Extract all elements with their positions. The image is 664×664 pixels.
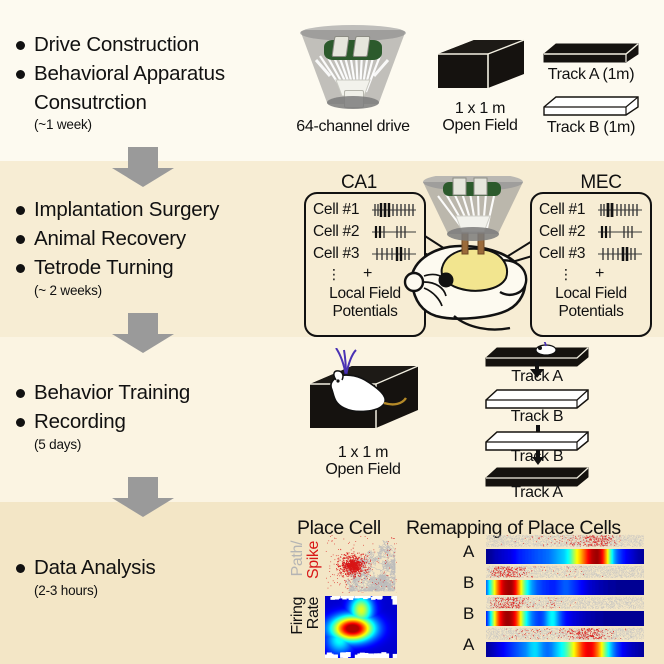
- stage-3-steps: Behavior Training Recording (5 days): [16, 379, 306, 452]
- cell-label: Cell #2: [313, 223, 371, 241]
- bullet-item: Tetrode Turning: [16, 254, 306, 281]
- bullet-label: Recording: [34, 408, 126, 435]
- flow-arrow-1-icon: [112, 147, 174, 187]
- drive-base: [327, 96, 379, 109]
- open-field-caption-1: 1 x 1 m: [430, 100, 530, 118]
- stage-duration: (~1 week): [34, 117, 306, 132]
- bullet-item: Animal Recovery: [16, 225, 306, 252]
- mec-cell-row: Cell #3: [539, 243, 643, 265]
- open-field-icon: [432, 36, 528, 98]
- remap-heat-bar-1: [486, 549, 644, 564]
- spike-raster-icon: [597, 246, 643, 262]
- rate-label: Rate: [306, 597, 322, 629]
- sequence-label-2: Track B: [484, 408, 590, 426]
- bullet-dot-icon: [16, 564, 25, 573]
- ellipsis-mark: ⋮: [559, 266, 573, 283]
- cell-label: Cell #3: [539, 245, 597, 263]
- bullet-dot-icon: [16, 264, 25, 273]
- remap-heat-bar-2: [486, 580, 644, 595]
- mec-recording-box: Cell #1 Cell #2: [530, 192, 652, 337]
- sequence-label-4: Track A: [484, 484, 590, 502]
- cell-label: Cell #1: [539, 201, 597, 219]
- bullet-item: Data Analysis: [16, 554, 306, 581]
- bullet-dot-icon: [16, 389, 25, 398]
- bullet-item: Recording: [16, 408, 306, 435]
- drive-icon: [300, 30, 406, 110]
- track-a-caption: Track A (1m): [528, 66, 654, 84]
- region-title-ca1: CA1: [316, 172, 402, 194]
- remap-row-label-1: A: [463, 542, 474, 562]
- bullet-item: Behavior Training: [16, 379, 306, 406]
- spike-raster-icon: [597, 202, 643, 218]
- stage-duration: (5 days): [34, 437, 306, 452]
- remap-row-label-3: B: [463, 604, 474, 624]
- open-field-caption-2: Open Field: [430, 117, 530, 135]
- stage-duration: (2-3 hours): [34, 583, 306, 598]
- bullet-dot-icon: [16, 235, 25, 244]
- spike-raster-icon: [597, 224, 643, 240]
- path-spike-plot: [325, 535, 397, 593]
- bullet-dot-icon: [16, 41, 25, 50]
- flow-arrow-2-icon: [112, 313, 174, 353]
- remap-row-label-2: B: [463, 573, 474, 593]
- bullet-label: Tetrode Turning: [34, 254, 173, 281]
- bullet-item: Implantation Surgery: [16, 196, 306, 223]
- bullet-dot-icon: [16, 70, 25, 79]
- spike-label: Spike: [306, 541, 322, 579]
- stage-4-steps: Data Analysis (2-3 hours): [16, 554, 306, 598]
- lfp-line-2: Potentials: [539, 303, 643, 321]
- open-field-with-rat-icon: [300, 348, 426, 448]
- remap-row-label-4: A: [463, 635, 474, 655]
- remap-path-strip-3: [486, 595, 644, 610]
- firing-label: Firing: [290, 597, 306, 635]
- bullet-label: Drive Construction: [34, 31, 199, 58]
- stage-duration: (~ 2 weeks): [34, 283, 306, 298]
- track-b-icon: [542, 93, 640, 119]
- bullet-label: Behavior Training: [34, 379, 190, 406]
- bullet-label: Data Analysis: [34, 554, 156, 581]
- bullet-continuation: Consutrction: [34, 89, 306, 116]
- cell-label: Cell #2: [539, 223, 597, 241]
- path-label: Path/: [290, 541, 306, 576]
- mec-cell-row: Cell #1: [539, 199, 643, 221]
- cell-label: Cell #3: [313, 245, 371, 263]
- bullet-item: Behavioral Apparatus: [16, 60, 306, 87]
- rat-head-illustration: [398, 176, 538, 336]
- figure-canvas: Drive Construction Behavioral Apparatus …: [0, 0, 664, 664]
- stage3-open-field-caption-2: Open Field: [300, 461, 426, 479]
- bullet-item: Drive Construction: [16, 31, 306, 58]
- ellipsis-mark: ⋮: [327, 266, 341, 283]
- bullet-label: Behavioral Apparatus: [34, 60, 225, 87]
- remap-heat-bar-4: [486, 642, 644, 657]
- region-title-mec: MEC: [556, 172, 646, 194]
- track-b-caption: Track B (1m): [528, 119, 654, 137]
- mec-cell-row: Cell #2: [539, 221, 643, 243]
- bullet-label: Animal Recovery: [34, 225, 186, 252]
- remap-path-strip-4: [486, 626, 644, 641]
- plus-mark: +: [363, 265, 372, 283]
- remap-heat-bar-3: [486, 611, 644, 626]
- bullet-dot-icon: [16, 418, 25, 427]
- remap-path-strip-1: [486, 533, 644, 548]
- flow-arrow-3-icon: [112, 477, 174, 517]
- bullet-label: Implantation Surgery: [34, 196, 219, 223]
- bullet-dot-icon: [16, 206, 25, 215]
- stage3-open-field-caption-1: 1 x 1 m: [300, 444, 426, 462]
- lfp-line-1: Local Field: [539, 285, 643, 303]
- drive-caption: 64-channel drive: [278, 118, 428, 136]
- drive-connector: [332, 36, 350, 57]
- track-a-icon: [542, 40, 640, 66]
- plus-mark: +: [595, 265, 604, 283]
- stage-1-steps: Drive Construction Behavioral Apparatus …: [16, 31, 306, 132]
- cell-label: Cell #1: [313, 201, 371, 219]
- stage-2-steps: Implantation Surgery Animal Recovery Tet…: [16, 196, 306, 298]
- sequence-arrow-1-icon: [528, 361, 546, 379]
- firing-rate-map: [325, 596, 397, 658]
- drive-connector: [353, 36, 371, 57]
- remap-path-strip-2: [486, 564, 644, 579]
